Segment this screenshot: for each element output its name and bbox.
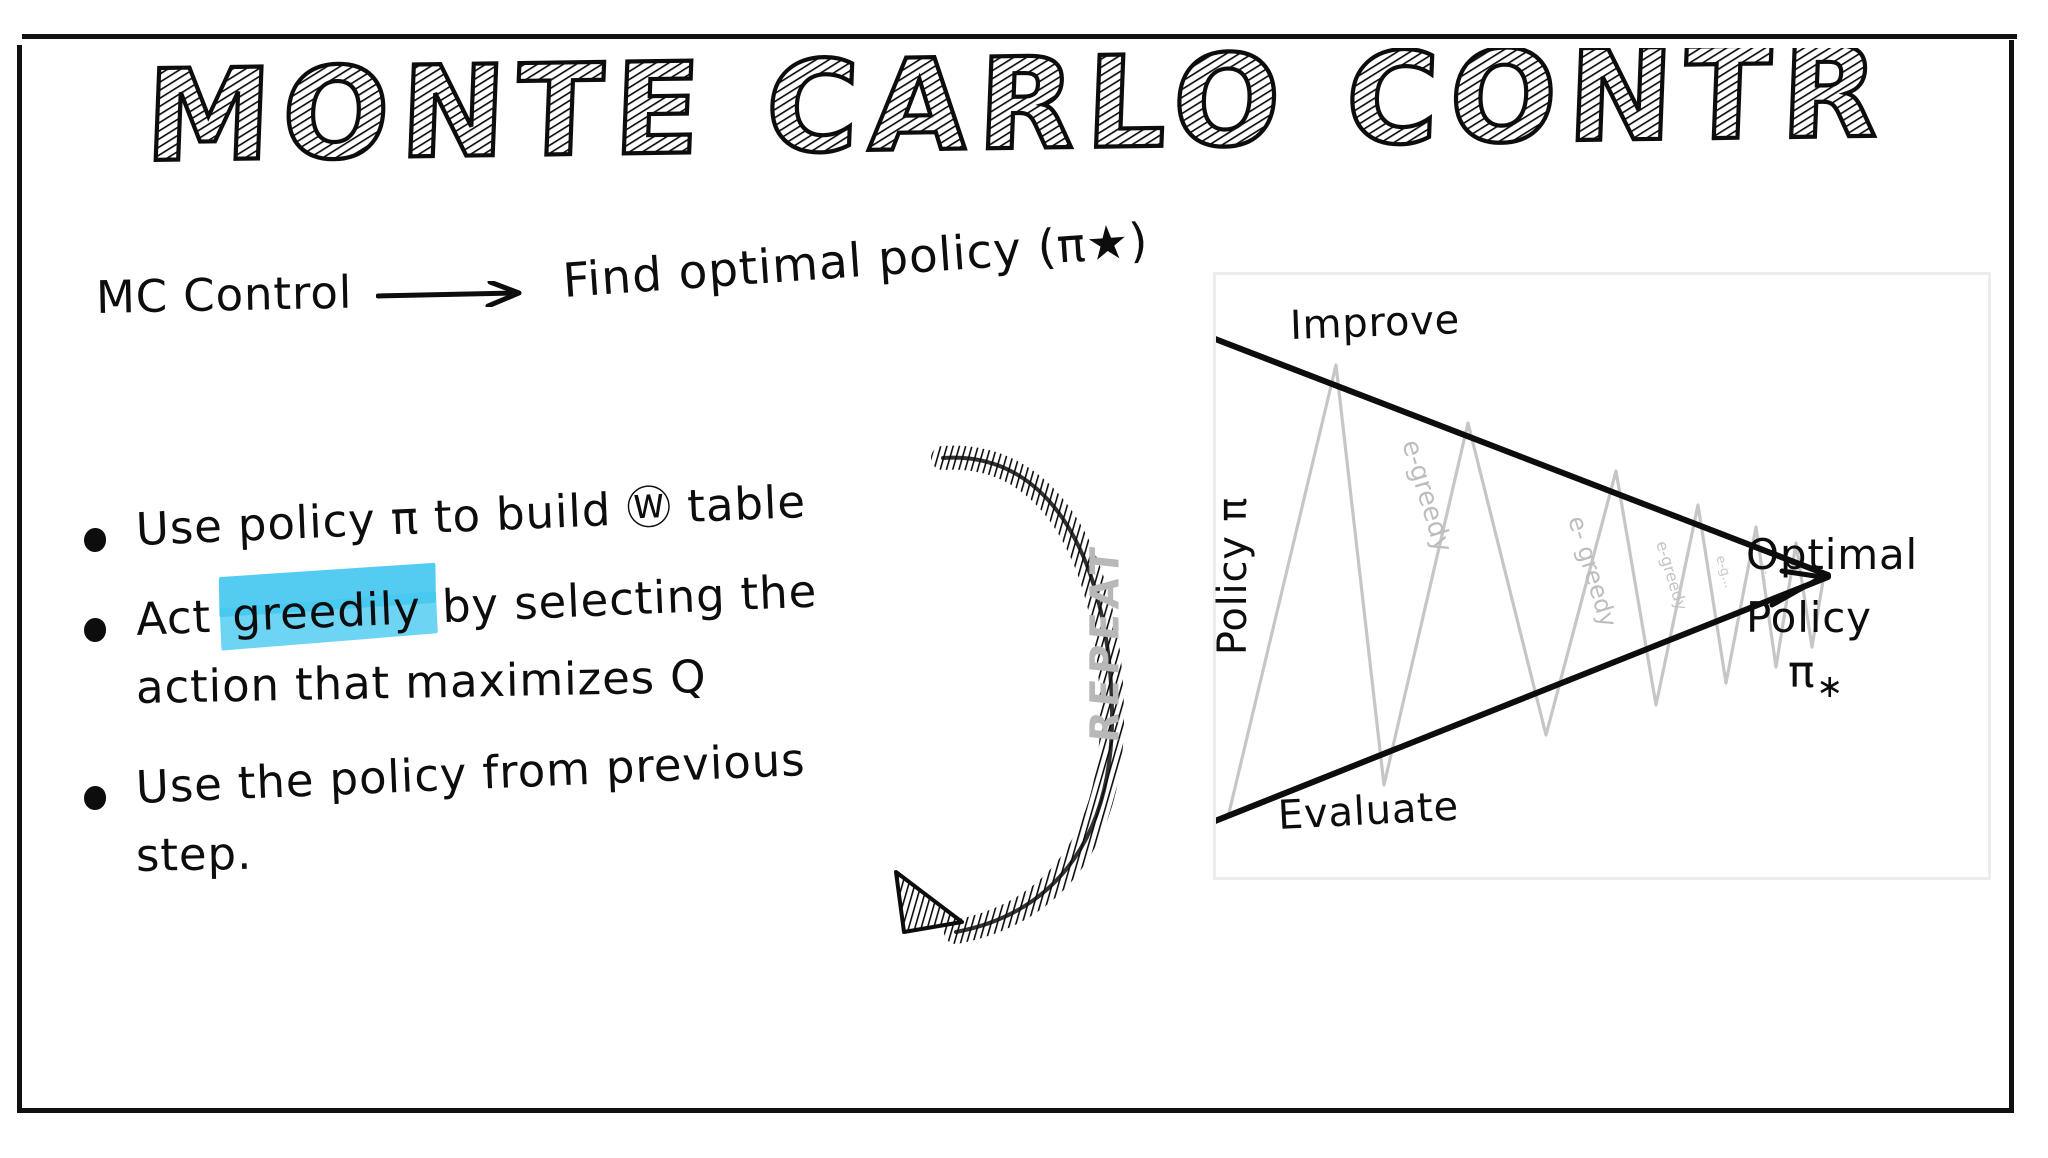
optimal-policy-label: Optimal Policy [1746, 523, 1918, 649]
optimal-policy-line-1: Optimal [1746, 523, 1918, 586]
frame-border-bottom [20, 1108, 2014, 1113]
pi-glyph: π [1788, 647, 1815, 698]
list-item-text: Use policy π to build Ⓦ table [136, 498, 806, 562]
frame-border-left [17, 45, 22, 1113]
repeat-label: REPEAT [1082, 541, 1128, 745]
evaluate-label: Evaluate [1277, 784, 1460, 839]
whiteboard-canvas: MONTE CARLO CONTROL MC Control Find opti… [0, 0, 2048, 1158]
list-item-text: Use the policy from previous step. [136, 756, 806, 888]
eg-label: e-g... [1712, 554, 1736, 590]
list-item-line-2: step. [135, 811, 806, 888]
eg-label: e-greedy [1652, 539, 1691, 613]
policy-axis-label: Policy π [1210, 497, 1256, 655]
list-item-text: Act greedily by selecting the action tha… [136, 588, 818, 720]
highlighted-word: greedily [225, 576, 428, 648]
epsilon-greedy-zigzag [1228, 365, 1824, 817]
gpi-diagram-panel: e-greedy e- greedy e-greedy e-g... e-.. … [1213, 272, 1991, 880]
list-item-text-post: by selecting the [426, 564, 818, 633]
subtitle-right-text: Find optimal policy (π★) [561, 213, 1150, 309]
frame-border-top [22, 34, 2017, 39]
list-item-line-2: action that maximizes Q [135, 643, 818, 720]
eg-label: e- greedy [1562, 513, 1622, 631]
list-item-text-pre: Act [135, 589, 227, 646]
page-title: MONTE CARLO CONTROL [150, 48, 1890, 188]
improve-label: Improve [1289, 297, 1461, 349]
curved-loop-arrow-icon [860, 420, 1180, 980]
improve-line [1216, 337, 1828, 575]
frame-border-right [2009, 40, 2014, 1112]
subtitle-row: MC Control Find optimal policy (π★) [96, 262, 1151, 332]
list-item-line: Act greedily by selecting the [135, 559, 819, 651]
title-sketch-svg: MONTE CARLO CONTROL [150, 48, 1890, 188]
pi-star-symbol: π∗ [1788, 647, 1844, 705]
eg-label: e-greedy [1395, 436, 1458, 556]
right-arrow-icon [376, 281, 546, 307]
asterisk-glyph: ∗ [1816, 667, 1844, 705]
list-item-line: Use the policy from previous [135, 728, 807, 820]
evaluate-line [1216, 577, 1828, 823]
optimal-policy-line-2: Policy [1746, 586, 1918, 649]
bullet-dot-icon [84, 528, 106, 552]
subtitle-left-text: MC Control [95, 265, 352, 323]
list-item-line: Use policy π to build Ⓦ table [135, 470, 807, 562]
bullet-dot-icon [84, 786, 106, 810]
title-text: MONTE CARLO CONTROL [150, 48, 1890, 188]
bullet-dot-icon [84, 618, 106, 642]
